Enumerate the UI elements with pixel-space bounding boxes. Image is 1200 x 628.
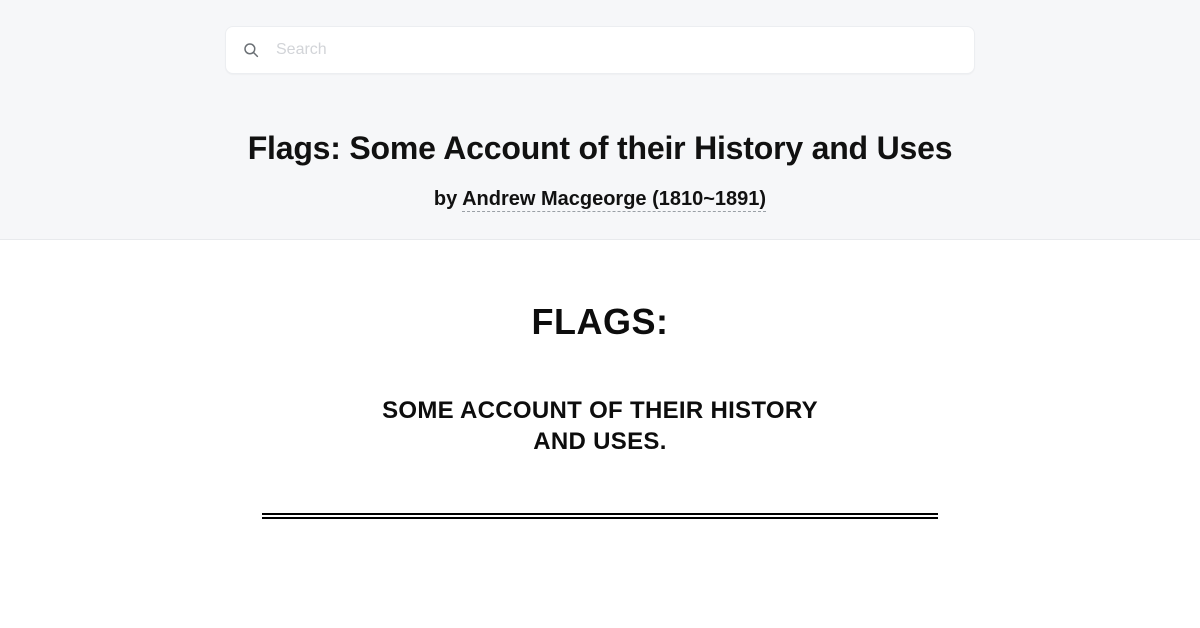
search-container <box>225 26 975 74</box>
document-subheading-line-1: SOME ACCOUNT OF THEIR HISTORY <box>382 397 818 424</box>
site-header: Flags: Some Account of their History and… <box>0 0 1200 240</box>
document-content: FLAGS: SOME ACCOUNT OF THEIR HISTORY AND… <box>0 240 1200 519</box>
document-heading: FLAGS: <box>0 302 1200 342</box>
page-title: Flags: Some Account of their History and… <box>225 130 975 166</box>
author-link[interactable]: Andrew Macgeorge (1810~1891) <box>462 188 766 212</box>
document-subheading: SOME ACCOUNT OF THEIR HISTORY AND USES. <box>0 396 1200 457</box>
search-icon <box>242 41 260 59</box>
title-block: Flags: Some Account of their History and… <box>225 74 975 211</box>
document-subheading-line-2: AND USES. <box>533 428 666 455</box>
search-box[interactable] <box>225 26 975 74</box>
search-input[interactable] <box>276 27 960 73</box>
byline: by Andrew Macgeorge (1810~1891) <box>225 188 975 211</box>
double-rule-divider <box>262 513 938 519</box>
byline-prefix: by <box>434 188 462 210</box>
